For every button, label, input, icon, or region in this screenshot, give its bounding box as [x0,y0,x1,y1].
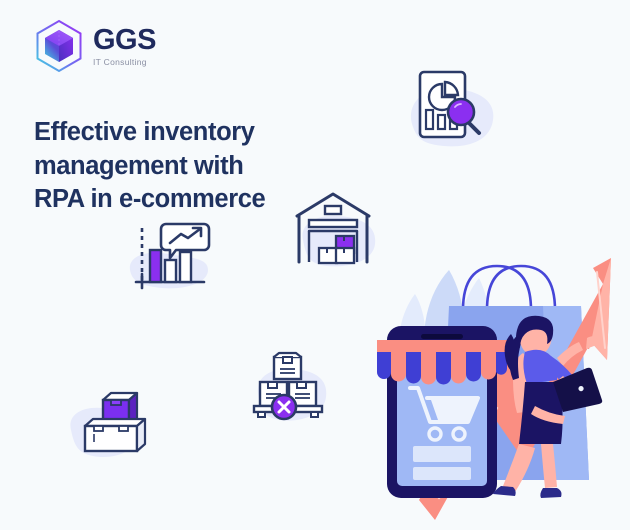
growth-chart-icon [120,212,220,302]
page-title-line-2: management with [34,150,334,184]
warehouse-icon [283,186,383,278]
hexagon-cube-logo-icon [33,18,85,74]
ecommerce-hero-illustration [375,248,630,530]
brand-tagline: IT Consulting [93,58,156,67]
brand-logo[interactable]: GGS IT Consulting [33,18,203,78]
banner-canvas: GGS IT Consulting Effective inventory ma… [0,0,630,530]
shop-awning [377,340,507,385]
pallet-boxes-icon [238,345,338,433]
analytics-report-icon [400,62,500,162]
brand-name: GGS [93,26,156,55]
page-title-line-1: Effective inventory [34,116,334,150]
tablet-storefront [377,326,507,498]
stacked-boxes-icon [63,382,163,470]
brand-logo-text: GGS IT Consulting [93,26,156,67]
